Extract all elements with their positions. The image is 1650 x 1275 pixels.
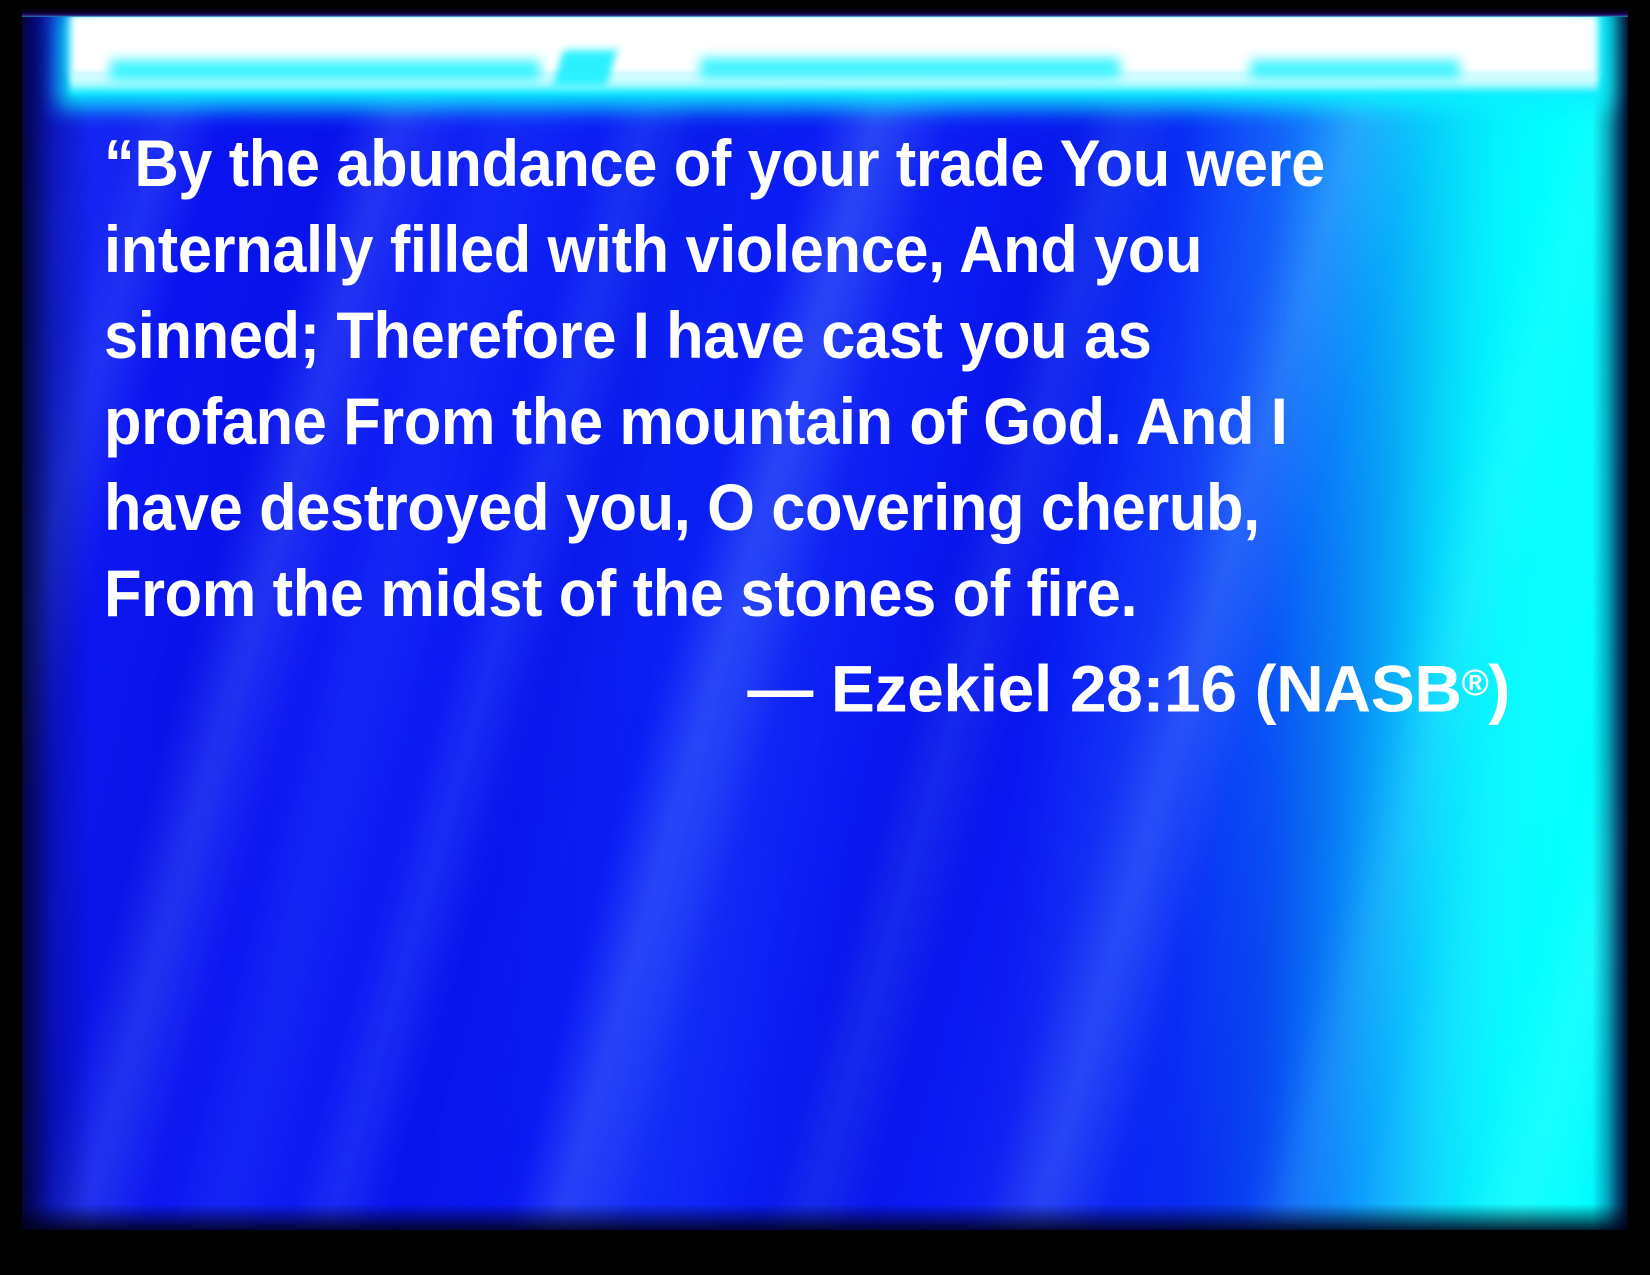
verse-line: “By the abundance of your trade You were [104, 120, 1425, 206]
artwork-panel: “By the abundance of your trade You were… [22, 8, 1628, 1230]
verse-attribution: — Ezekiel 28:16 (NASB®) [104, 640, 1524, 731]
verse-text-block: “By the abundance of your trade You were… [104, 120, 1524, 731]
verse-line: profane From the mountain of God. And I [104, 378, 1425, 464]
attribution-suffix: ) [1488, 651, 1510, 725]
verse-line: internally filled with violence, And you [104, 206, 1425, 292]
attribution-prefix: — Ezekiel 28:16 (NASB [747, 651, 1461, 725]
registered-trademark-icon: ® [1462, 662, 1489, 703]
verse-image-canvas: “By the abundance of your trade You were… [0, 0, 1650, 1275]
verse-line: have destroyed you, O covering cherub, [104, 464, 1425, 550]
verse-line: sinned; Therefore I have cast you as [104, 292, 1425, 378]
verse-line: From the midst of the stones of fire. [104, 550, 1425, 636]
